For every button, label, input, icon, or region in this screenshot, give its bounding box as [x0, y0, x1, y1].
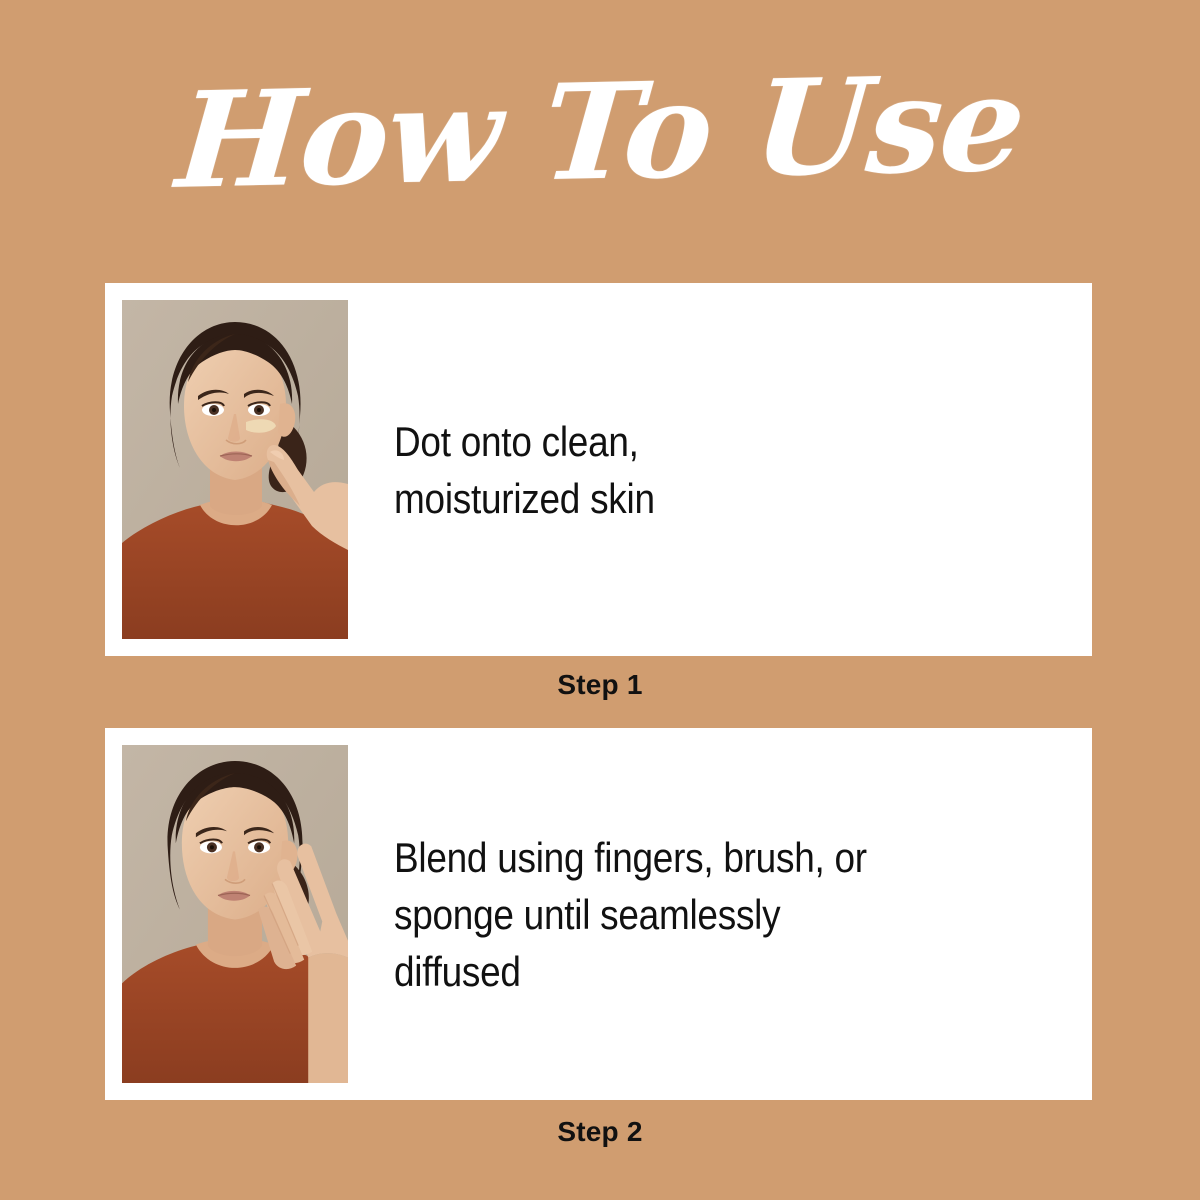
how-to-use-poster: How To Use — [0, 0, 1200, 1200]
page-title: How To Use — [172, 58, 1028, 208]
step-1-text: Dot onto clean,moisturized skin — [394, 413, 655, 527]
step-1-text-wrap: Dot onto clean,moisturized skin — [348, 300, 1075, 639]
step-2-label: Step 2 — [0, 1116, 1200, 1148]
step-1-label: Step 1 — [0, 669, 1200, 701]
page-title-area: How To Use — [0, 38, 1200, 228]
step-1-photo — [122, 300, 348, 639]
step-card-1: Dot onto clean,moisturized skin — [105, 283, 1092, 656]
step-2-photo — [122, 745, 348, 1083]
step-card-2: Blend using fingers, brush, orsponge unt… — [105, 728, 1092, 1100]
step-2-text-wrap: Blend using fingers, brush, orsponge unt… — [348, 745, 1075, 1083]
step-2-text: Blend using fingers, brush, orsponge unt… — [394, 829, 867, 1000]
